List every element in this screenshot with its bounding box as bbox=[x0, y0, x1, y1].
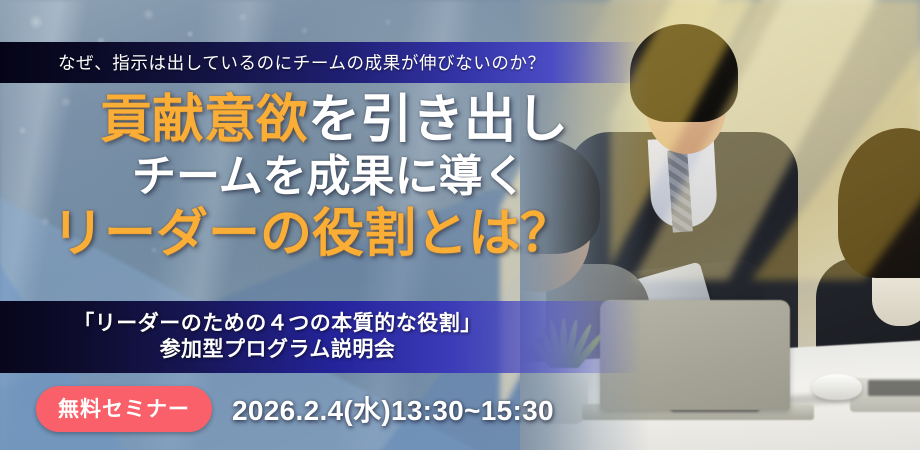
question-bar: なぜ、指示は出しているのにチームの成果が伸びないのか？ bbox=[0, 42, 640, 83]
free-seminar-badge: 無料セミナー bbox=[36, 386, 212, 432]
computer-mouse bbox=[812, 374, 862, 400]
headline-line-3: リーダーの役割とは？ bbox=[0, 209, 620, 261]
seminar-banner: なぜ、指示は出しているのにチームの成果が伸びないのか？ 貢献意欲を引き出し チー… bbox=[0, 0, 920, 450]
headline-highlight: 貢献意欲 bbox=[100, 92, 308, 149]
headline-block: 貢献意欲を引き出し チームを成果に導く リーダーの役割とは？ bbox=[0, 95, 620, 261]
headline-line-1-rest: を引き出し bbox=[308, 92, 568, 149]
question-bar-text: なぜ、指示は出しているのにチームの成果が伸びないのか？ bbox=[58, 50, 546, 75]
subtitle-band: 「リーダーのための４つの本質的な役割」 参加型プログラム説明会 bbox=[0, 301, 640, 373]
subtitle-line-2: 参加型プログラム説明会 bbox=[160, 337, 396, 363]
secondary-laptop-keyboard bbox=[868, 380, 920, 396]
subtitle-line-1: 「リーダーのための４つの本質的な役割」 bbox=[73, 311, 482, 337]
seminar-datetime: 2026.2.4(水)13:30~15:30 bbox=[232, 389, 554, 429]
footer-row: 無料セミナー 2026.2.4(水)13:30~15:30 bbox=[36, 386, 554, 432]
headline-line-2: チームを成果に導く bbox=[0, 155, 620, 199]
headline-line-1: 貢献意欲を引き出し bbox=[0, 95, 620, 147]
